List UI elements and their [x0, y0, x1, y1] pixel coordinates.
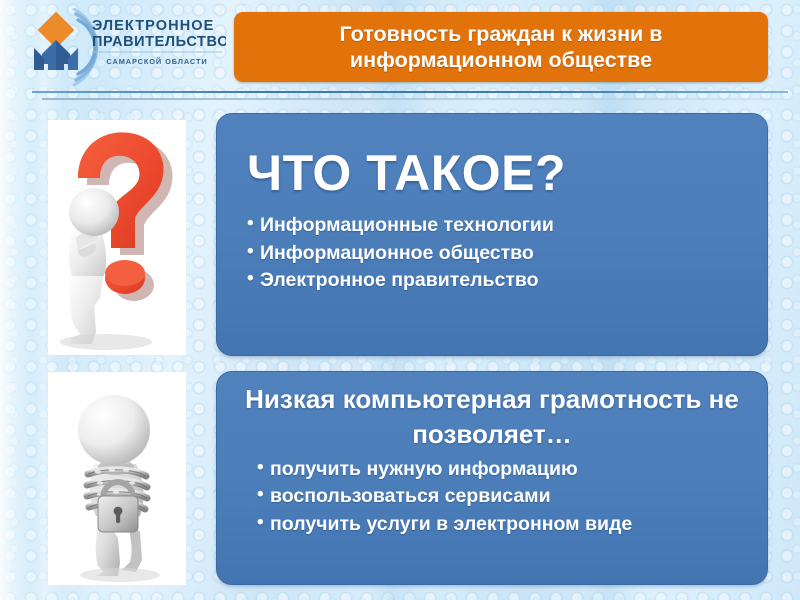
card-low-computer-literacy-bullet-list: получить нужную информацию воспользовать… — [217, 452, 767, 538]
card-what-is-it: ЧТО ТАКОЕ? Информационные технологии Инф… — [216, 113, 768, 356]
page-title: Готовность граждан к жизни в информацион… — [234, 21, 768, 73]
electronic-government-logo: ЭЛЕКТРОННОЕ ПРАВИТЕЛЬСТВО САМАРСКОЙ ОБЛА… — [26, 8, 226, 86]
list-item: Информационные технологии — [247, 212, 767, 240]
card-what-is-it-heading: ЧТО ТАКОЕ? — [217, 114, 767, 198]
logo-line3: САМАРСКОЙ ОБЛАСТИ — [106, 57, 207, 66]
list-item: воспользоваться сервисами — [257, 483, 767, 510]
list-item: Информационное общество — [247, 240, 767, 268]
header-divider-line — [32, 91, 788, 93]
card-what-is-it-bullet-list: Информационные технологии Информационное… — [217, 198, 767, 295]
header-divider-line-secondary — [42, 98, 784, 100]
chained-figure-padlock-image — [48, 372, 186, 585]
thinking-figure-question-mark-image — [48, 120, 186, 355]
card-low-computer-literacy: Низкая компьютерная грамотность не позво… — [216, 371, 768, 585]
list-item: получить нужную информацию — [257, 456, 767, 483]
logo-line2: ПРАВИТЕЛЬСТВО — [92, 34, 226, 50]
list-item: получить услуги в электронном виде — [257, 511, 767, 538]
list-item: Электронное правительство — [247, 267, 767, 295]
card-low-computer-literacy-heading: Низкая компьютерная грамотность не позво… — [217, 372, 767, 452]
slide-title-banner: Готовность граждан к жизни в информацион… — [234, 12, 768, 82]
slide-root: ЭЛЕКТРОННОЕ ПРАВИТЕЛЬСТВО САМАРСКОЙ ОБЛА… — [0, 0, 800, 600]
logo-line1: ЭЛЕКТРОННОЕ — [92, 18, 214, 34]
background-left-band — [0, 0, 38, 600]
